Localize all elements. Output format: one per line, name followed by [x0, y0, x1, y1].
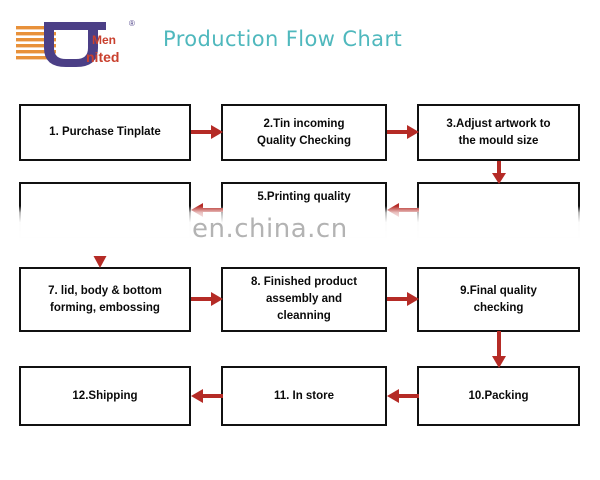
flow-node-9-line-2: checking: [423, 300, 574, 317]
flow-node-3-line-1: 3.Adjust artwork to: [423, 116, 574, 133]
tin-men-united-logo: Tin Men nited ®: [14, 12, 146, 70]
flow-node-12: 12.Shipping: [19, 366, 191, 426]
arrow-6-to-5: [387, 202, 419, 218]
flow-node-3-line-2: the mould size: [423, 133, 574, 150]
flow-node-7-line-2: forming, embossing: [25, 300, 185, 317]
flow-node-8-line-2: assembly and: [227, 291, 381, 308]
flowchart-page: Tin Men nited ® Production Flow Chart 1.…: [0, 0, 600, 480]
flow-node-10-line-1: 10.Packing: [423, 388, 574, 405]
arrow-2-to-3: [387, 124, 419, 140]
svg-text:®: ®: [129, 19, 135, 28]
arrow-4-to-7: [92, 226, 108, 268]
arrow-1-to-2: [191, 124, 223, 140]
flow-node-9: 9.Final quality checking: [417, 267, 580, 332]
arrow-3-to-6: [491, 161, 507, 184]
flow-node-11-line-1: 11. In store: [227, 388, 381, 405]
flow-node-7: 7. lid, body & bottom forming, embossing: [19, 267, 191, 332]
flow-node-2-line-1: 2.Tin incoming: [227, 116, 381, 133]
flow-node-8-line-1: 8. Finished product: [227, 274, 381, 291]
page-title: Production Flow Chart: [163, 27, 402, 51]
flow-node-11: 11. In store: [221, 366, 387, 426]
flow-node-8: 8. Finished product assembly and cleanni…: [221, 267, 387, 332]
svg-text:Men: Men: [92, 33, 116, 47]
flow-node-8-line-3: cleanning: [227, 308, 381, 325]
flow-node-7-line-1: 7. lid, body & bottom: [25, 283, 185, 300]
flow-node-12-line-1: 12.Shipping: [25, 388, 185, 405]
svg-text:Tin: Tin: [55, 28, 83, 49]
arrow-7-to-8: [191, 291, 223, 307]
flow-node-1-line-1: 1. Purchase Tinplate: [25, 124, 185, 141]
arrow-9-to-10: [491, 331, 507, 368]
arrow-11-to-12: [191, 388, 223, 404]
flow-node-2-line-2: Quality Checking: [227, 133, 381, 150]
arrow-10-to-11: [387, 388, 419, 404]
flow-node-10: 10.Packing: [417, 366, 580, 426]
flow-node-9-line-1: 9.Final quality: [423, 283, 574, 300]
flow-node-3: 3.Adjust artwork to the mould size: [417, 104, 580, 161]
flow-node-5-line-1: 5.Printing quality: [227, 189, 381, 206]
header: Tin Men nited ® Production Flow Chart: [0, 0, 600, 88]
flow-node-2: 2.Tin incoming Quality Checking: [221, 104, 387, 161]
arrow-8-to-9: [387, 291, 419, 307]
flow-node-1: 1. Purchase Tinplate: [19, 104, 191, 161]
svg-text:nited: nited: [86, 49, 119, 65]
arrow-5-to-4: [191, 202, 223, 218]
flow-node-6: [417, 182, 580, 239]
flow-node-5: 5.Printing quality: [221, 182, 387, 239]
